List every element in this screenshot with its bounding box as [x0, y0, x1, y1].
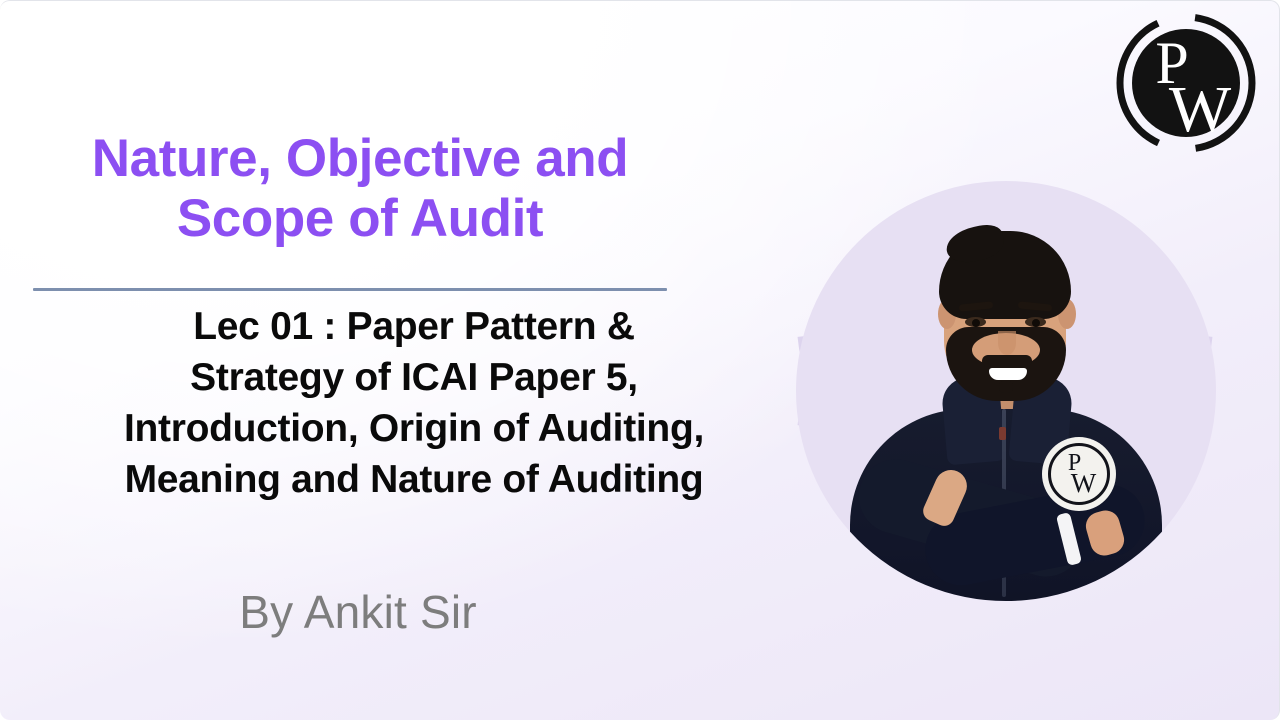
pw-logo: P W: [1112, 9, 1260, 157]
nose-shape: [998, 331, 1016, 355]
logo-letter-w: W: [1169, 73, 1232, 146]
pw-logo-icon: P W: [1112, 9, 1260, 157]
mustache-shape: [982, 355, 1032, 367]
smile-shape: [989, 368, 1027, 380]
presenter-name: By Ankit Sir: [8, 585, 708, 639]
zipper-pull: [999, 427, 1006, 440]
text-column: Nature, Objective and Scope of Audit Lec…: [0, 1, 820, 720]
page-title: Nature, Objective and Scope of Audit: [20, 129, 700, 249]
lecture-subtitle: Lec 01 : Paper Pattern & Strategy of ICA…: [8, 301, 820, 505]
pupil-right: [1032, 319, 1040, 327]
title-divider: [33, 288, 667, 291]
chin-beard: [999, 381, 1013, 393]
pupil-left: [972, 319, 980, 327]
patch-letter-w: W: [1071, 473, 1096, 494]
jacket-pw-patch: P W: [1044, 439, 1114, 509]
instructor-photo: P W: [796, 181, 1216, 601]
portrait-composition: P W: [770, 146, 1240, 616]
presentation-slide: Nature, Objective and Scope of Audit Lec…: [0, 0, 1280, 720]
